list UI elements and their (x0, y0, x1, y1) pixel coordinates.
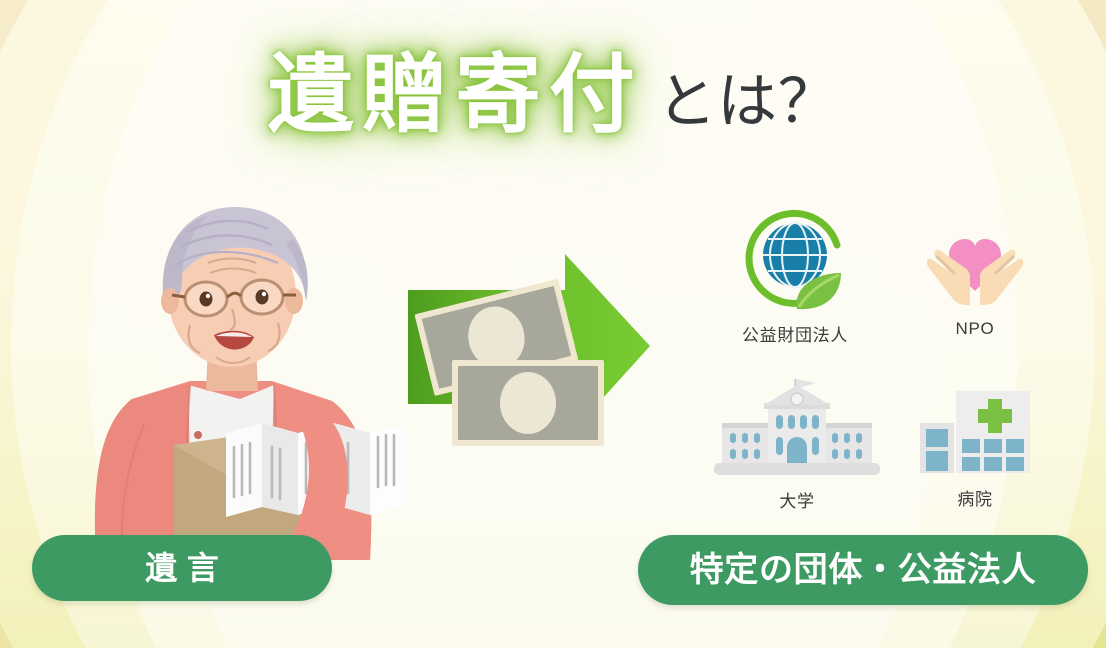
title-main-text: 遺贈寄付 (268, 52, 643, 138)
recipient-group: 公益財団法人 NPO (700, 205, 1060, 525)
recipient-badge-label: 特定の団体・公益法人 (690, 553, 1037, 587)
hospital-building-icon (916, 383, 1034, 479)
infographic-canvas: 遺贈寄付 とは？ (0, 0, 1106, 648)
recipient-item-university[interactable]: 大学 (702, 375, 892, 512)
recipient-label: 大学 (702, 487, 892, 512)
recipient-label: 公益財団法人 (700, 321, 890, 346)
hands-heart-icon (923, 213, 1027, 313)
will-badge[interactable]: 遺言 (32, 535, 332, 601)
recipient-label: NPO (890, 319, 1060, 339)
elderly-woman-illustration (40, 185, 410, 560)
globe-leaf-icon (741, 205, 849, 315)
title-suffix-text: とは？ (657, 72, 839, 138)
recipient-item-foundation[interactable]: 公益財団法人 (700, 205, 890, 346)
page-title: 遺贈寄付 とは？ (0, 52, 1106, 138)
money-transfer-arrow (400, 248, 655, 448)
recipient-badge[interactable]: 特定の団体・公益法人 (638, 535, 1088, 605)
recipient-label: 病院 (890, 485, 1060, 510)
recipient-item-npo[interactable]: NPO (890, 213, 1060, 339)
will-badge-label: 遺言 (136, 552, 229, 584)
recipient-item-hospital[interactable]: 病院 (890, 383, 1060, 510)
university-building-icon (708, 375, 886, 481)
